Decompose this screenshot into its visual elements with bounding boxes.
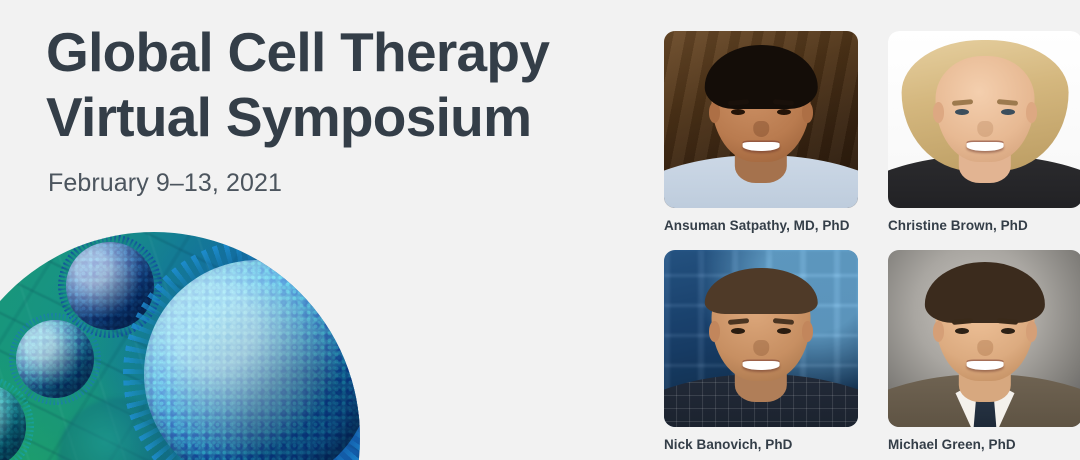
page-title: Global Cell Therapy Virtual Symposium [46,20,646,150]
portrait-nose [753,121,769,137]
portrait-nose [977,121,993,137]
portrait-ear-left [709,321,721,342]
speaker-name: Ansuman Satpathy, MD, PhD [664,218,858,233]
speaker-photo-ansuman-satpathy [664,31,858,208]
portrait-ear-left [933,102,945,123]
portrait-ear-left [933,321,945,342]
speaker-card[interactable]: Nick Banovich, PhD [664,250,858,452]
cell-microscopy-image [0,232,360,460]
speaker-photo-michael-green [888,250,1080,427]
speaker-name: Christine Brown, PhD [888,218,1080,233]
speaker-card[interactable]: Christine Brown, PhD [888,31,1080,233]
title-block: Global Cell Therapy Virtual Symposium Fe… [46,20,646,198]
speaker-grid: Ansuman Satpathy, MD, PhD [664,31,1056,452]
speaker-card[interactable]: Ansuman Satpathy, MD, PhD [664,31,858,233]
cell-sphere [0,384,26,460]
cell-rim-shadow [16,320,94,398]
cell-sphere [16,320,94,398]
portrait [664,31,858,208]
event-dates: February 9–13, 2021 [48,168,646,198]
portrait [888,250,1080,427]
portrait-nose [977,340,993,356]
cell-sphere-primary [144,260,360,460]
portrait [888,31,1080,208]
speaker-card[interactable]: Michael Green, PhD [888,250,1080,452]
speaker-name: Michael Green, PhD [888,437,1080,452]
portrait-nose [753,340,769,356]
symposium-banner: Global Cell Therapy Virtual Symposium Fe… [0,0,1080,460]
speaker-name: Nick Banovich, PhD [664,437,858,452]
speaker-photo-nick-banovich [664,250,858,427]
speaker-photo-christine-brown [888,31,1080,208]
portrait [664,250,858,427]
